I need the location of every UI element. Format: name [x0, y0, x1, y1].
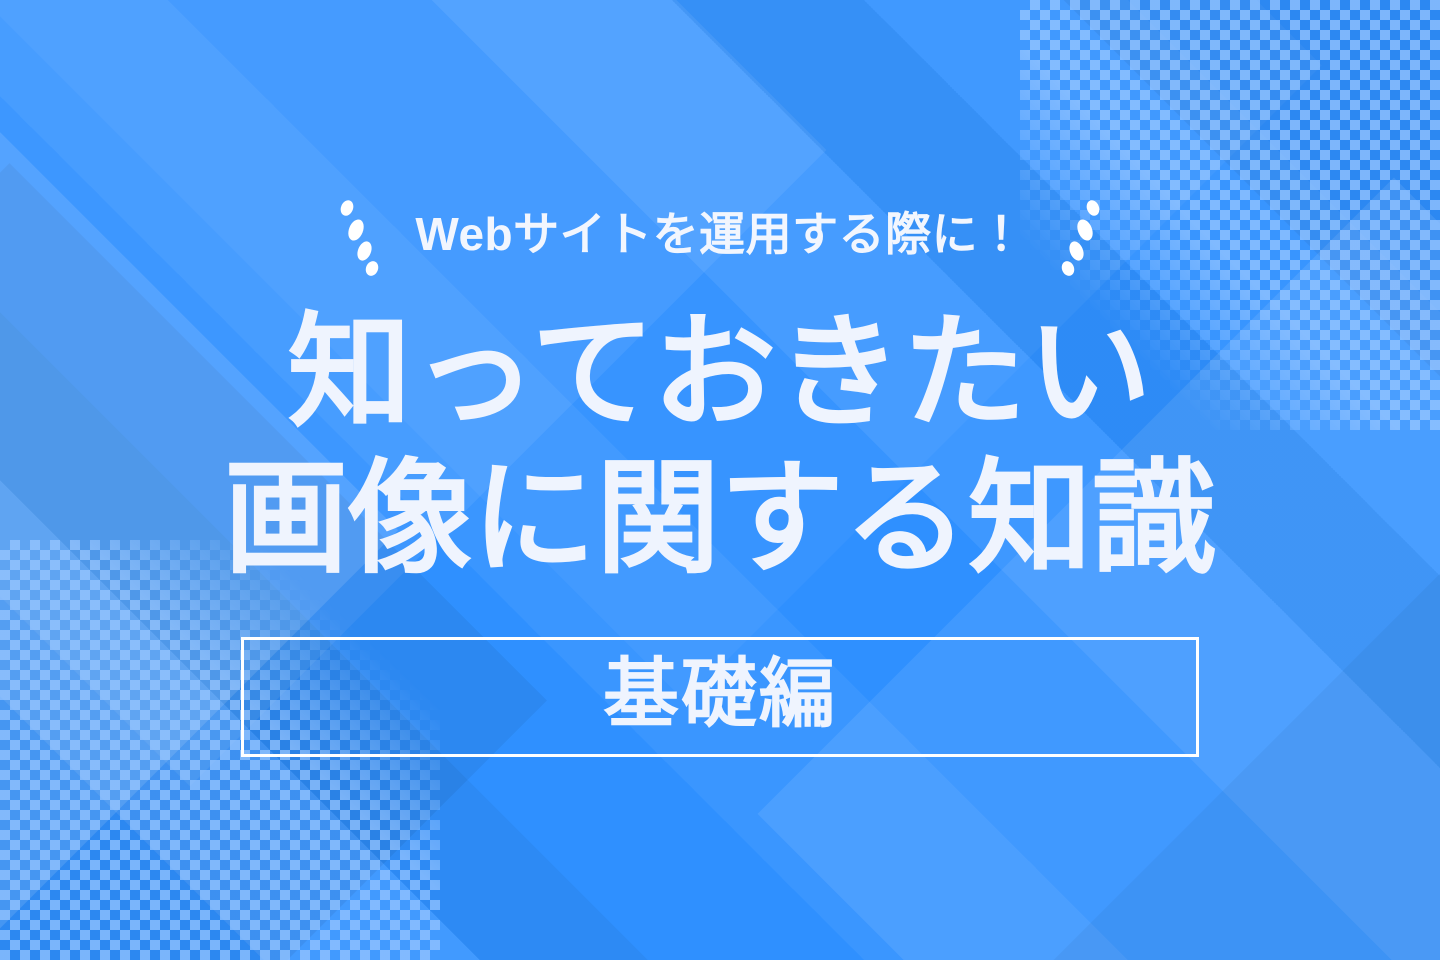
slash-dashes-left-icon [337, 188, 381, 280]
headline-line-2: 画像に関する知識 [0, 446, 1440, 592]
slash-dashes-right-icon [1059, 188, 1103, 280]
banner-content: Webサイトを運用する際に！ 知っておきたい 画像に関する知識 基礎編 [0, 0, 1440, 960]
badge-label: 基礎編 [603, 657, 837, 733]
status-badge: 基礎編 [241, 637, 1199, 757]
eyebrow-text: Webサイトを運用する際に！ [415, 211, 1024, 257]
headline-line-1: 知っておきたい [0, 300, 1440, 446]
eyebrow-row: Webサイトを運用する際に！ [0, 188, 1440, 280]
page-title: 知っておきたい 画像に関する知識 [0, 300, 1440, 593]
hero-banner: Webサイトを運用する際に！ 知っておきたい 画像に関する知識 基礎編 [0, 0, 1440, 960]
